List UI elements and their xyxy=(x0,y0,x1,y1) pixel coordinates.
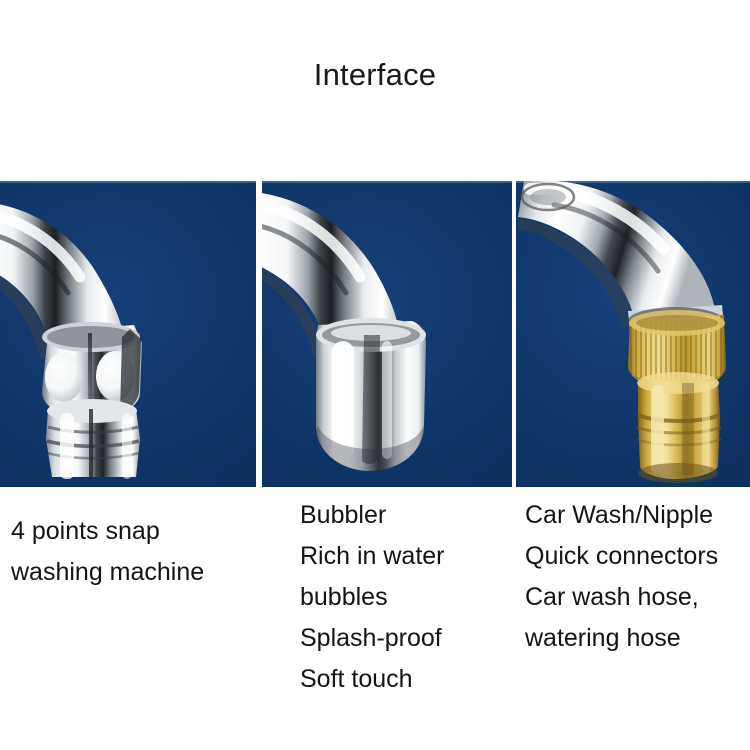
caption-line: Car Wash/Nipple xyxy=(525,495,718,536)
caption-line: watering hose xyxy=(525,618,718,659)
caption-line: 4 points snap xyxy=(11,511,204,552)
caption-area: 4 points snap washing machine Bubbler Ri… xyxy=(0,487,750,750)
chrome-faucet-brass-quick-connector-icon xyxy=(516,181,750,487)
caption-line: Bubbler xyxy=(300,495,445,536)
four-point-snap-caption: 4 points snap washing machine xyxy=(11,511,204,593)
panel-strip xyxy=(0,181,750,487)
bubbler-caption: Bubbler Rich in water bubbles Splash-pro… xyxy=(300,495,445,700)
image-panel-four-point-snap xyxy=(0,181,256,487)
caption-line: Soft touch xyxy=(300,659,445,700)
image-panel-bubbler xyxy=(262,181,512,487)
page-title: Interface xyxy=(0,56,750,94)
car-wash-nipple-caption: Car Wash/Nipple Quick connectors Car was… xyxy=(525,495,718,659)
caption-line: washing machine xyxy=(11,552,204,593)
chrome-faucet-four-point-snap-icon xyxy=(0,181,256,487)
caption-line: Rich in water xyxy=(300,536,445,577)
chrome-faucet-bubbler-icon xyxy=(262,181,512,487)
image-panel-car-wash-nipple xyxy=(516,181,750,487)
caption-line: bubbles xyxy=(300,577,445,618)
caption-line: Quick connectors xyxy=(525,536,718,577)
caption-line: Splash-proof xyxy=(300,618,445,659)
caption-line: Car wash hose, xyxy=(525,577,718,618)
product-interface-infographic: Interface xyxy=(0,0,750,750)
